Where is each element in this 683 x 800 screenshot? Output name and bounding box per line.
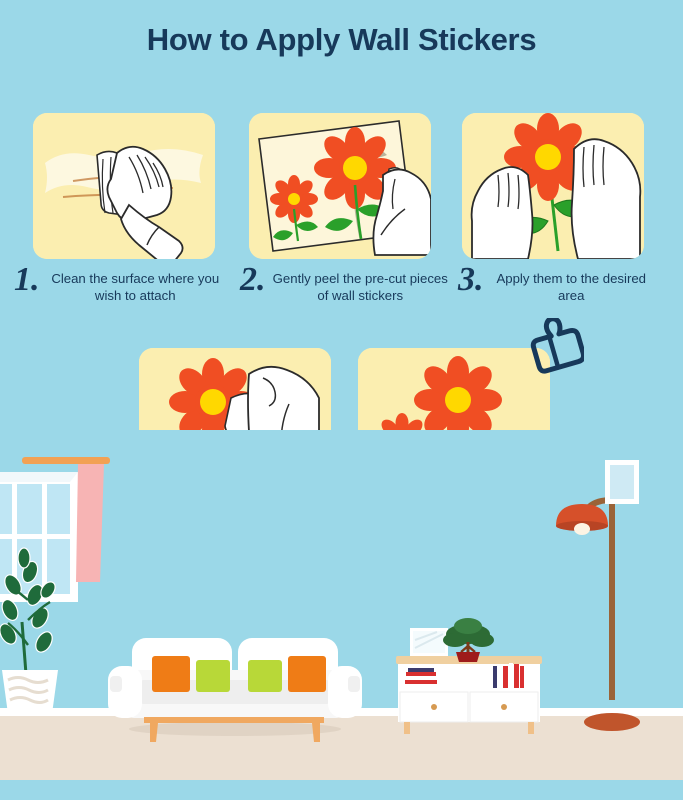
step-illustration-2 (249, 113, 431, 259)
step-caption-1: 1. Clean the surface where you wish to a… (14, 264, 226, 305)
cushion-3 (248, 660, 282, 692)
wall-picture-frame (605, 460, 639, 504)
step-number-2: 2. (240, 264, 266, 295)
step-illustration-1 (33, 113, 215, 259)
cushion-1 (152, 656, 190, 692)
step-text-2: Gently peel the pre-cut pieces of wall s… (271, 264, 451, 305)
step-text-3: Apply them to the desired area (489, 264, 655, 305)
step-caption-2: 2. Gently peel the pre-cut pieces of wal… (240, 264, 450, 305)
room-scene (0, 430, 683, 800)
cushion-2 (196, 660, 230, 692)
step-caption-3: 3. Apply them to the desired area (458, 264, 654, 305)
curtain (76, 464, 104, 582)
step-text-1: Clean the surface where you wish to atta… (45, 264, 227, 305)
thumbs-up-icon (522, 318, 584, 374)
step-number-3: 3. (458, 264, 484, 295)
curtain-rod (22, 457, 110, 464)
step-number-1: 1. (14, 264, 40, 295)
step-illustration-3 (462, 113, 644, 259)
cushion-4 (288, 656, 326, 692)
infographic-root: How to Apply Wall Stickers (0, 0, 683, 800)
page-title: How to Apply Wall Stickers (0, 22, 683, 58)
